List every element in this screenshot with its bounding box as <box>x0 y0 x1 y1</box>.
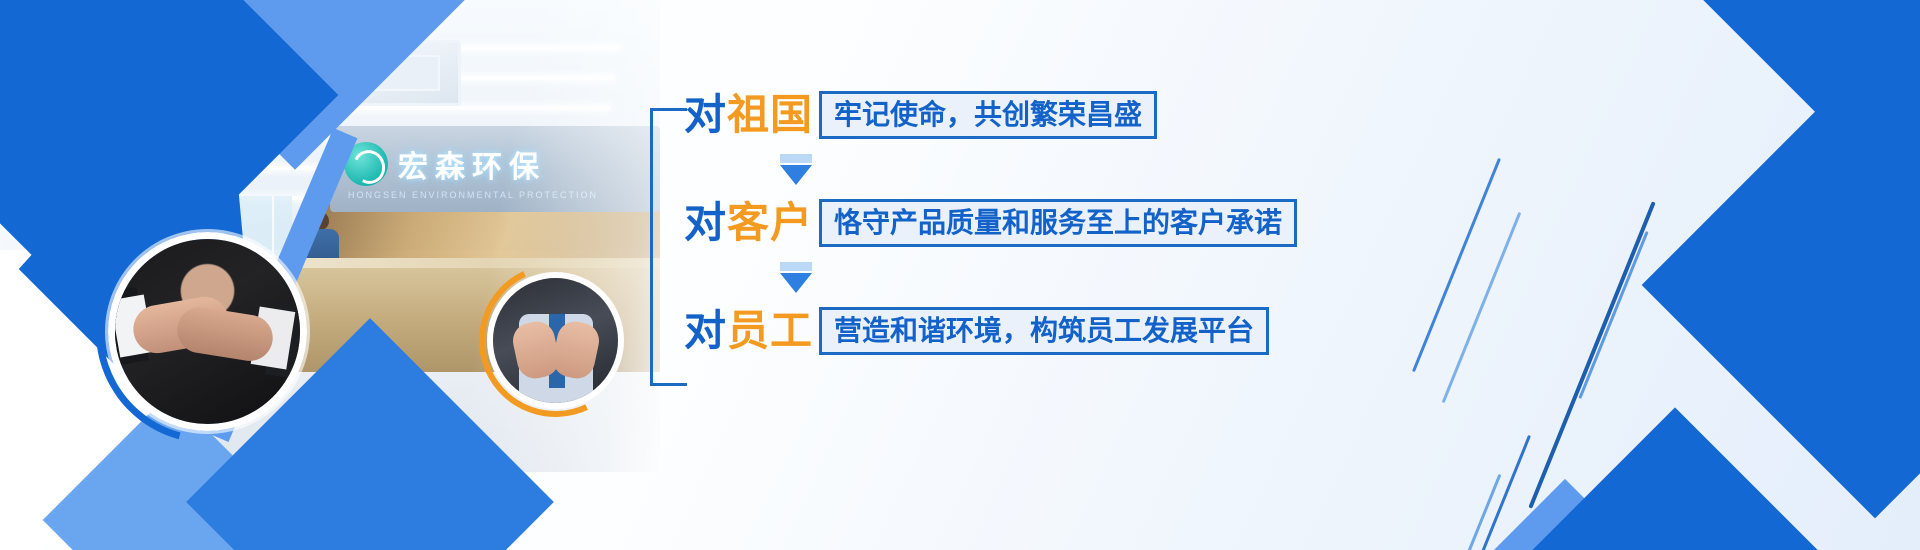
handshake-photo <box>108 232 307 431</box>
value-quote-customer: 恪守产品质量和服务至上的客户承诺 <box>819 199 1297 247</box>
values-content: 对祖国 牢记使命，共创繁荣昌盛 对客户 恪守产品质量和服务至上的客户承诺 <box>650 86 1350 406</box>
row-prefix: 对 <box>684 91 727 138</box>
value-row-customer: 对客户 恪守产品质量和服务至上的客户承诺 <box>684 194 1350 252</box>
company-values-banner: 宏森环保 HONGSEN ENVIRONMENTAL PROTECTION <box>0 0 1920 550</box>
value-quote-country: 牢记使命，共创繁荣昌盛 <box>819 91 1157 139</box>
row-target: 客户 <box>727 199 813 246</box>
down-arrow-icon <box>780 165 812 185</box>
separator-arrow-2 <box>684 252 1350 302</box>
row-prefix: 对 <box>684 307 727 354</box>
down-arrow-icon <box>780 273 812 293</box>
value-row-country: 对祖国 牢记使命，共创繁荣昌盛 <box>684 86 1350 144</box>
row-target: 员工 <box>727 307 813 354</box>
separator-arrow-1 <box>684 144 1350 194</box>
bracket-connector <box>650 108 687 386</box>
row-target: 祖国 <box>727 91 813 138</box>
value-row-employee: 对员工 营造和谐环境，构筑员工发展平台 <box>684 302 1350 360</box>
teamwork-photo <box>487 272 624 409</box>
value-quote-employee: 营造和谐环境，构筑员工发展平台 <box>819 307 1269 355</box>
row-prefix: 对 <box>684 199 727 246</box>
